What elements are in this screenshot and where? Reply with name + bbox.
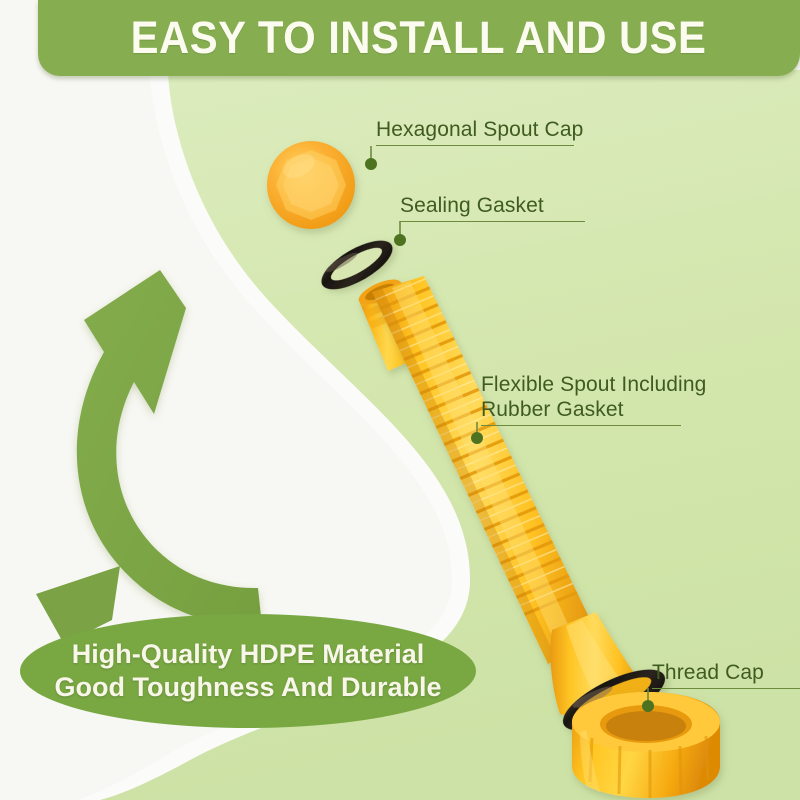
header-banner: EASY TO INSTALL AND USE <box>38 0 800 76</box>
badge-text-block: High-Quality HDPE Material Good Toughnes… <box>18 612 478 730</box>
infographic-canvas: EASY TO INSTALL AND USE <box>0 0 800 800</box>
callout-thread-cap: Thread Cap <box>652 660 800 689</box>
callout-thread-cap-label: Thread Cap <box>652 660 800 685</box>
callout-flexible-spout-label-line2: Rubber Gasket <box>481 397 706 422</box>
hdpe-material-badge: High-Quality HDPE Material Good Toughnes… <box>18 612 478 730</box>
callout-underline <box>376 145 574 146</box>
callout-hexagonal-spout-cap: Hexagonal Spout Cap <box>376 117 583 146</box>
callout-underline <box>652 688 800 689</box>
callout-underline <box>481 425 681 426</box>
hexagonal-spout-cap-part <box>267 141 355 229</box>
badge-line-2: Good Toughness And Durable <box>55 671 442 704</box>
page-title: EASY TO INSTALL AND USE <box>131 12 707 64</box>
callout-hexagonal-spout-cap-label: Hexagonal Spout Cap <box>376 117 583 142</box>
badge-line-1: High-Quality HDPE Material <box>72 638 425 671</box>
callout-sealing-gasket: Sealing Gasket <box>400 193 585 222</box>
callout-flexible-spout-label-line1: Flexible Spout Including <box>481 372 706 397</box>
callout-underline <box>400 221 585 222</box>
callout-sealing-gasket-label: Sealing Gasket <box>400 193 585 218</box>
thread-cap-part <box>572 692 720 798</box>
callout-flexible-spout: Flexible Spout Including Rubber Gasket <box>481 372 706 426</box>
